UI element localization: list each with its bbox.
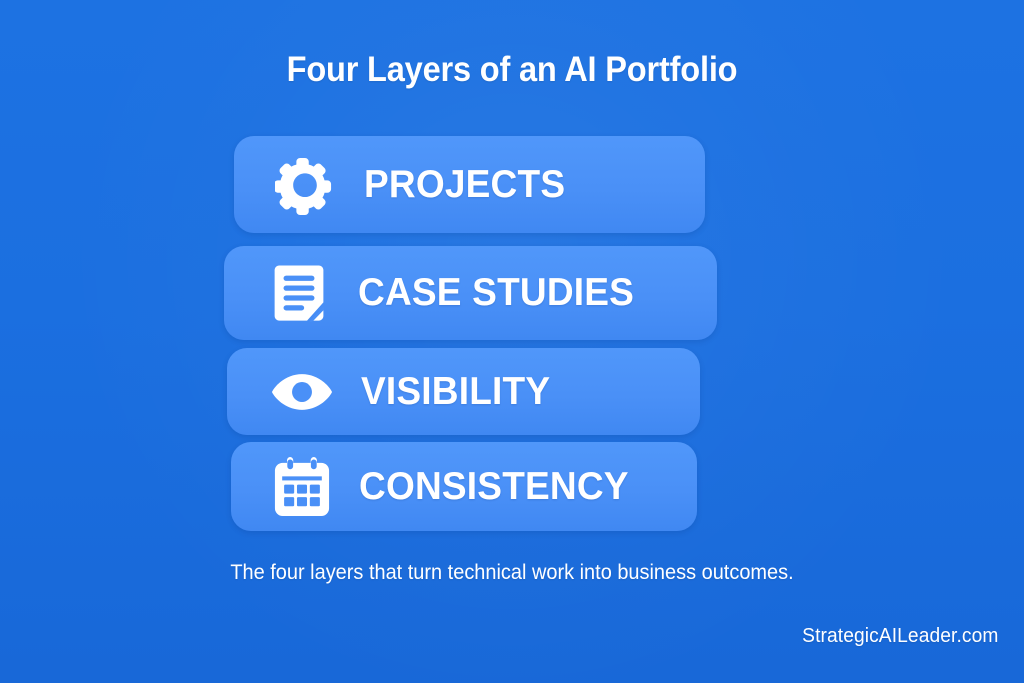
calendar-icon: [273, 457, 331, 517]
layer-label: PROJECTS: [364, 163, 565, 207]
layer-card-case-studies[interactable]: CASE STUDIES: [224, 246, 717, 340]
layer-label: CASE STUDIES: [358, 271, 634, 315]
layers-stack: PROJECTS CASE STUDIES: [0, 136, 1024, 536]
infographic-poster: Four Layers of an AI Portfolio PROJECTS: [0, 0, 1024, 683]
eye-icon: [271, 370, 333, 414]
caption-text: The four layers that turn technical work…: [170, 557, 854, 588]
branding-url: StrategicAILeader.com: [802, 625, 998, 648]
layer-label: VISIBILITY: [361, 370, 550, 414]
layer-label: CONSISTENCY: [359, 465, 629, 509]
gear-icon: [274, 155, 336, 215]
layer-card-consistency[interactable]: CONSISTENCY: [231, 442, 697, 531]
layer-card-visibility[interactable]: VISIBILITY: [227, 348, 700, 435]
document-icon: [270, 263, 328, 323]
layer-card-projects[interactable]: PROJECTS: [234, 136, 705, 233]
page-title: Four Layers of an AI Portfolio: [36, 48, 988, 92]
